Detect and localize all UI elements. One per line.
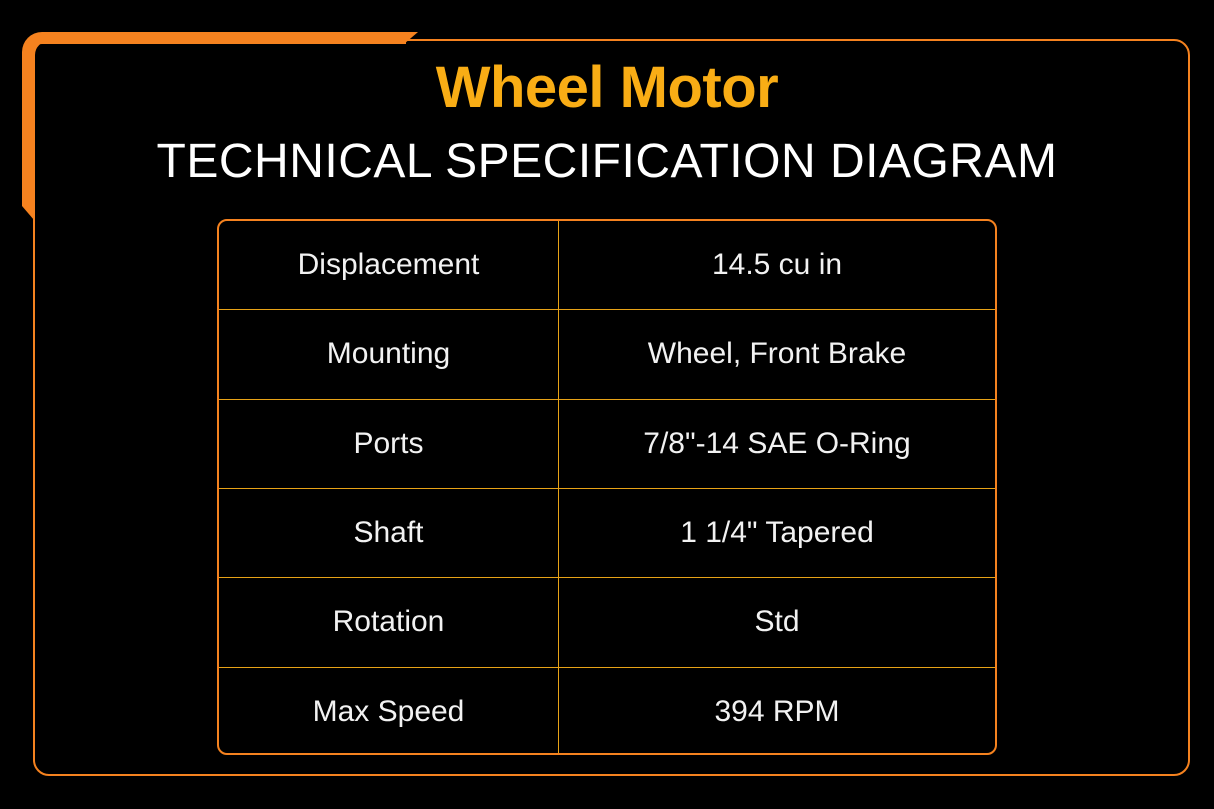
spec-value: 14.5 cu in <box>559 221 995 309</box>
spec-label: Displacement <box>219 221 559 309</box>
spec-value: Wheel, Front Brake <box>559 310 995 398</box>
spec-label: Mounting <box>219 310 559 398</box>
spec-value: Std <box>559 578 995 666</box>
poster-canvas: Wheel Motor TECHNICAL SPECIFICATION DIAG… <box>0 0 1214 809</box>
table-row: Shaft 1 1/4" Tapered <box>219 489 995 578</box>
table-row: Mounting Wheel, Front Brake <box>219 310 995 399</box>
spec-label: Shaft <box>219 489 559 577</box>
table-row: Displacement 14.5 cu in <box>219 221 995 310</box>
spec-value: 1 1/4" Tapered <box>559 489 995 577</box>
spec-label: Ports <box>219 400 559 488</box>
page-subtitle: TECHNICAL SPECIFICATION DIAGRAM <box>0 136 1214 189</box>
spec-label: Rotation <box>219 578 559 666</box>
table-row: Rotation Std <box>219 578 995 667</box>
table-row: Max Speed 394 RPM <box>219 668 995 755</box>
spec-value: 7/8"-14 SAE O-Ring <box>559 400 995 488</box>
spec-label: Max Speed <box>219 668 559 755</box>
spec-value: 394 RPM <box>559 668 995 755</box>
table-row: Ports 7/8"-14 SAE O-Ring <box>219 400 995 489</box>
page-title: Wheel Motor <box>0 58 1214 119</box>
specification-table: Displacement 14.5 cu in Mounting Wheel, … <box>217 219 997 755</box>
